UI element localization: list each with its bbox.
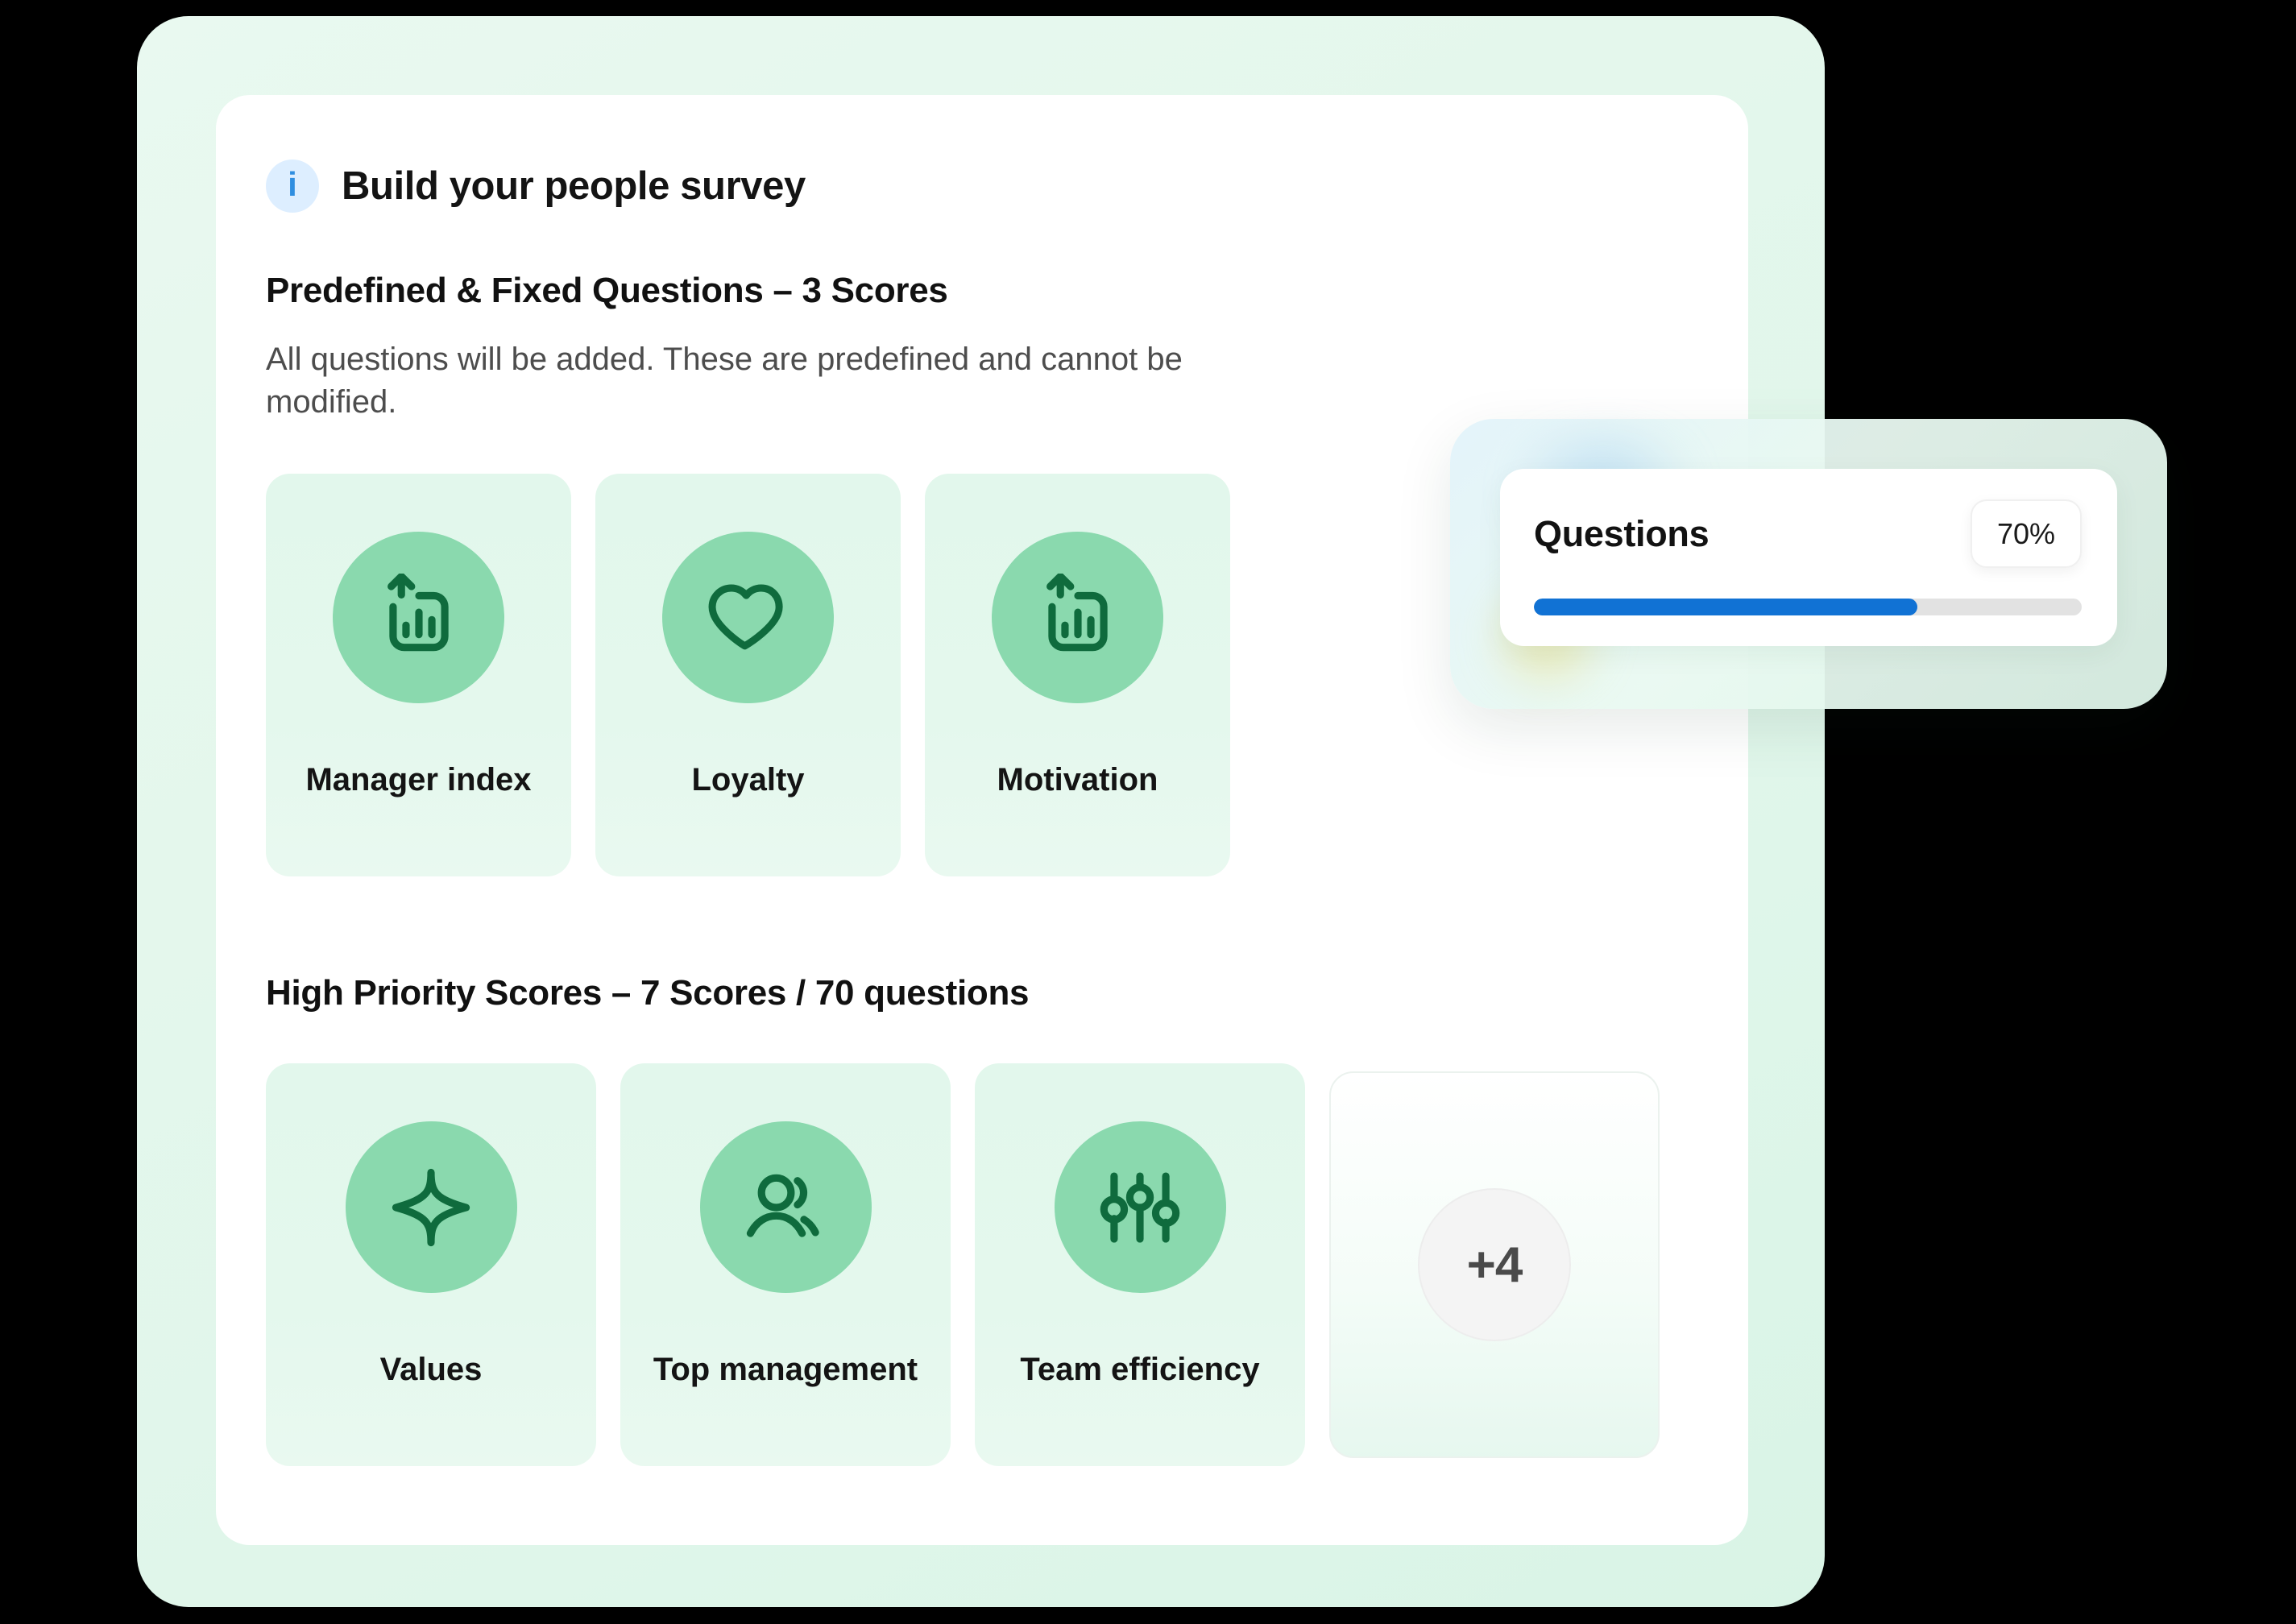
more-count-badge: +4 (1418, 1188, 1571, 1341)
users-icon (700, 1121, 872, 1293)
section-description-predefined: All questions will be added. These are p… (266, 338, 1313, 424)
score-card-label: Loyalty (595, 760, 901, 800)
info-icon: i (266, 159, 319, 213)
high-priority-card-grid: Values Top management (266, 1063, 1700, 1466)
sliders-icon (1055, 1121, 1226, 1293)
chart-up-icon (992, 532, 1163, 703)
info-icon-glyph: i (288, 168, 297, 201)
sparkle-icon (346, 1121, 517, 1293)
questions-percent-chip: 70% (1971, 499, 2082, 568)
questions-progress-bar (1534, 599, 2082, 615)
score-card-label: Values (266, 1350, 596, 1390)
section-high-priority: High Priority Scores – 7 Scores / 70 que… (266, 973, 1700, 1466)
questions-progress-title: Questions (1534, 513, 1709, 555)
section-title-predefined: Predefined & Fixed Questions – 3 Scores (266, 271, 1700, 311)
more-scores-card[interactable]: +4 (1329, 1071, 1660, 1458)
questions-progress-inner-card: Questions 70% (1500, 469, 2117, 646)
score-card-team-efficiency[interactable]: Team efficiency (975, 1063, 1305, 1466)
section-title-high-priority: High Priority Scores – 7 Scores / 70 que… (266, 973, 1700, 1013)
score-card-top-management[interactable]: Top management (620, 1063, 951, 1466)
score-card-manager-index[interactable]: Manager index (266, 474, 571, 876)
score-card-motivation[interactable]: Motivation (925, 474, 1230, 876)
questions-progress-fill (1534, 599, 1917, 615)
questions-progress-panel: Questions 70% (1450, 419, 2167, 709)
score-card-label: Team efficiency (975, 1350, 1305, 1390)
survey-builder-card: i Build your people survey Predefined & … (216, 95, 1748, 1545)
heart-icon (662, 532, 834, 703)
score-card-label: Top management (620, 1350, 951, 1390)
score-card-values[interactable]: Values (266, 1063, 596, 1466)
score-card-label: Manager index (266, 760, 571, 800)
score-card-loyalty[interactable]: Loyalty (595, 474, 901, 876)
questions-progress-header: Questions 70% (1534, 499, 2082, 568)
score-card-label: Motivation (925, 760, 1230, 800)
chart-up-icon (333, 532, 504, 703)
page-title: Build your people survey (342, 164, 806, 209)
card-header: i Build your people survey (266, 159, 806, 213)
screenshot-stage: i Build your people survey Predefined & … (0, 0, 2296, 1624)
more-count-label: +4 (1467, 1237, 1523, 1294)
